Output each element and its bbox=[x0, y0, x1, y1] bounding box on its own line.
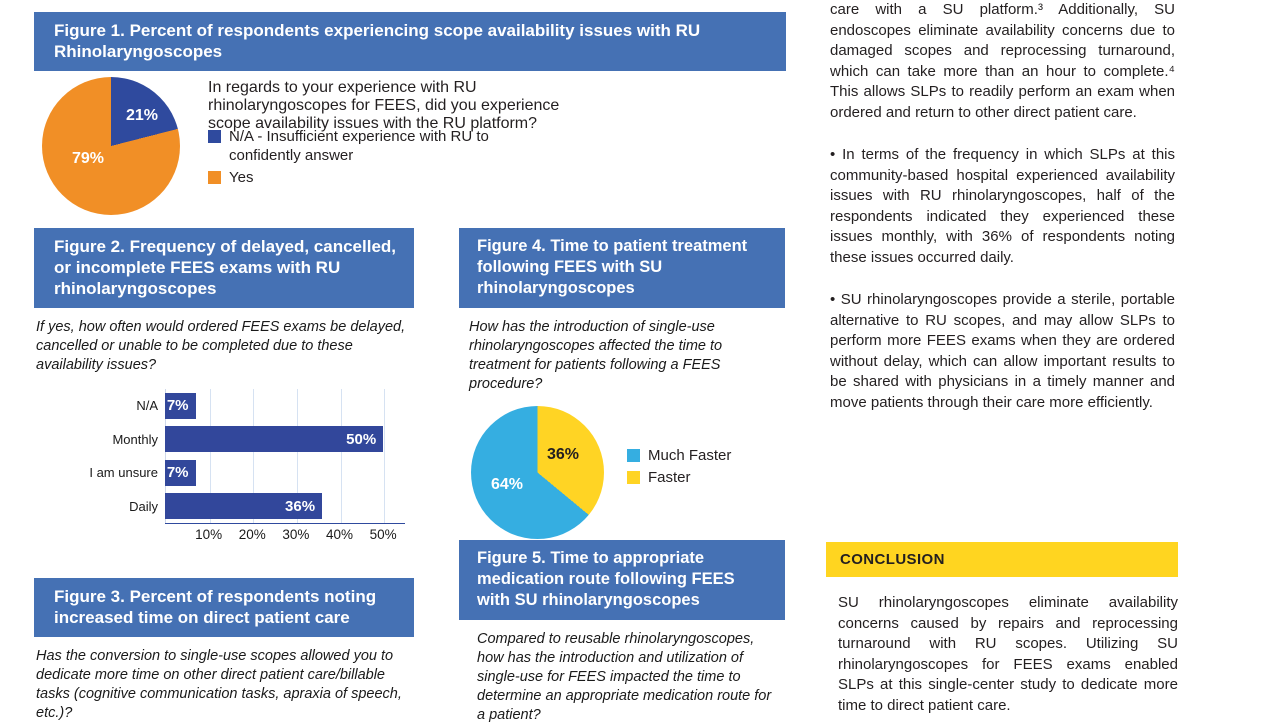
bar-chart-x-axis: 10%20%30%40%50% bbox=[165, 523, 405, 547]
figure-1-body: 21% 79% In regards to your experience wi… bbox=[34, 71, 786, 221]
bar-chart-bar: 7% bbox=[165, 393, 196, 419]
bar-chart-bar: 50% bbox=[165, 426, 383, 452]
figure-3-question: Has the conversion to single-use scopes … bbox=[36, 647, 412, 723]
figure-1-question: In regards to your experience with RU rh… bbox=[208, 79, 588, 133]
figure-4-heading: Figure 4. Time to patient treatment foll… bbox=[459, 228, 785, 308]
figure-1-legend: N/A - Insufficient experience with RU to… bbox=[208, 127, 508, 190]
discussion-paragraph: • SU rhinolaryngoscopes provide a steril… bbox=[830, 290, 1175, 413]
figure-1-heading: Figure 1. Percent of respondents experie… bbox=[34, 12, 786, 71]
figure-2-question: If yes, how often would ordered FEES exa… bbox=[36, 318, 412, 375]
pie-1-slices bbox=[42, 77, 180, 215]
bar-chart-row: I am unsure7% bbox=[165, 456, 405, 490]
conclusion-panel: CONCLUSION SU rhinolaryngoscopes elimina… bbox=[826, 542, 1178, 716]
bar-chart-bar: 36% bbox=[165, 493, 322, 519]
figure-2-heading: Figure 2. Frequency of delayed, cancelle… bbox=[34, 228, 414, 308]
figure-2-panel: Figure 2. Frequency of delayed, cancelle… bbox=[34, 228, 414, 549]
bar-chart-value-label: 36% bbox=[285, 498, 315, 515]
poster-canvas: Figure 1. Percent of respondents experie… bbox=[0, 0, 1278, 711]
pie-4-slices bbox=[471, 406, 604, 539]
legend-label: Faster bbox=[648, 468, 691, 487]
figure-4-question: How has the introduction of single-use r… bbox=[469, 318, 779, 394]
bar-chart-category-label: N/A bbox=[136, 398, 158, 413]
legend-item: N/A - Insufficient experience with RU to… bbox=[208, 127, 508, 165]
bar-chart-value-label: 7% bbox=[167, 397, 189, 414]
pie-4-label-much-faster: 64% bbox=[491, 476, 523, 494]
legend-swatch-icon bbox=[627, 471, 640, 484]
bar-chart-x-tick-label: 50% bbox=[370, 527, 397, 542]
discussion-paragraph: care with a SU platform.³ Additionally, … bbox=[830, 0, 1175, 123]
figure-1-pie-chart: 21% 79% bbox=[42, 77, 180, 215]
legend-label: N/A - Insufficient experience with RU to… bbox=[229, 127, 508, 165]
bar-chart-row: Daily36% bbox=[165, 490, 405, 524]
figure-4-panel: Figure 4. Time to patient treatment foll… bbox=[459, 228, 785, 549]
bar-chart-category-label: I am unsure bbox=[89, 465, 158, 480]
bar-chart-rows: N/A7%Monthly50%I am unsure7%Daily36% bbox=[165, 389, 405, 523]
pie-1-label-yes: 79% bbox=[72, 150, 104, 168]
pie-4-label-faster: 36% bbox=[547, 446, 579, 464]
legend-label: Much Faster bbox=[648, 446, 731, 465]
figure-4-chart-row: 36% 64% Much Faster Faster bbox=[459, 404, 785, 549]
legend-swatch-icon bbox=[627, 449, 640, 462]
legend-item: Faster bbox=[627, 468, 777, 487]
figure-5-heading: Figure 5. Time to appropriate medication… bbox=[459, 540, 785, 620]
bar-chart-x-tick-label: 30% bbox=[282, 527, 309, 542]
legend-item: Much Faster bbox=[627, 446, 777, 465]
bar-chart-row: Monthly50% bbox=[165, 423, 405, 457]
bar-chart-category-label: Monthly bbox=[112, 432, 158, 447]
bar-chart-row: N/A7% bbox=[165, 389, 405, 423]
discussion-column: care with a SU platform.³ Additionally, … bbox=[830, 0, 1175, 435]
discussion-paragraph: • In terms of the frequency in which SLP… bbox=[830, 145, 1175, 268]
conclusion-heading: CONCLUSION bbox=[826, 542, 1178, 577]
bar-chart-bar: 7% bbox=[165, 460, 196, 486]
pie-1-label-na: 21% bbox=[126, 107, 158, 125]
bar-chart-x-tick-label: 40% bbox=[326, 527, 353, 542]
figure-2-bar-chart: N/A7%Monthly50%I am unsure7%Daily36% 10%… bbox=[34, 389, 412, 549]
conclusion-body: SU rhinolaryngoscopes eliminate availabi… bbox=[826, 593, 1178, 716]
legend-swatch-icon bbox=[208, 130, 221, 143]
legend-swatch-icon bbox=[208, 171, 221, 184]
figure-3-heading: Figure 3. Percent of respondents noting … bbox=[34, 578, 414, 637]
figure-1-panel: Figure 1. Percent of respondents experie… bbox=[34, 12, 786, 221]
bar-chart-value-label: 50% bbox=[346, 431, 376, 448]
figure-4-legend: Much Faster Faster bbox=[627, 446, 777, 490]
bar-chart-category-label: Daily bbox=[129, 499, 158, 514]
bar-chart-x-tick-label: 20% bbox=[239, 527, 266, 542]
bar-chart-x-tick-label: 10% bbox=[195, 527, 222, 542]
bar-chart-value-label: 7% bbox=[167, 464, 189, 481]
figure-4-pie-chart: 36% 64% bbox=[471, 406, 604, 539]
legend-label: Yes bbox=[229, 168, 253, 187]
figure-3-panel: Figure 3. Percent of respondents noting … bbox=[34, 578, 414, 723]
figure-5-panel: Figure 5. Time to appropriate medication… bbox=[459, 540, 785, 725]
legend-item: Yes bbox=[208, 168, 508, 187]
